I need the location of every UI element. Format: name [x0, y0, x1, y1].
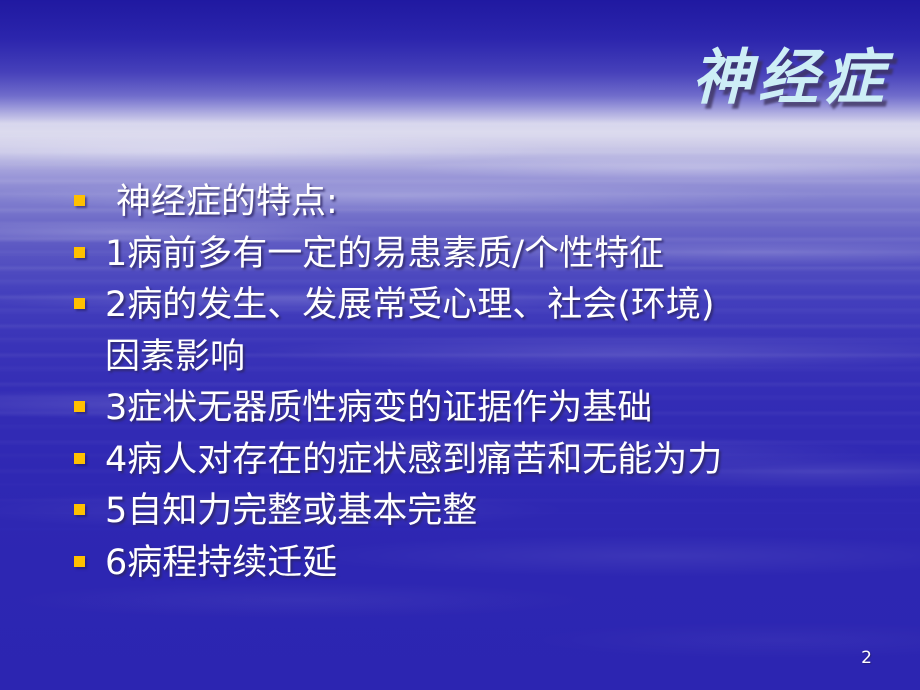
bullet-square-icon: [74, 298, 85, 309]
slide-bullet-list: 神经症的特点:1病前多有一定的易患素质/个性特征2病的发生、发展常受心理、社会(…: [74, 180, 894, 592]
slide-title: 神经症: [692, 48, 890, 108]
bullet-item: 6病程持续迁延: [74, 541, 894, 587]
bullet-square-icon: [74, 401, 85, 412]
bullet-wrapped-line: 因素影响: [74, 335, 894, 381]
bullet-label: 因素影响: [85, 335, 894, 381]
bullet-label: 6病程持续迁延: [85, 541, 894, 587]
bullet-item: 2病的发生、发展常受心理、社会(环境): [74, 283, 894, 329]
bullet-label: 5自知力完整或基本完整: [85, 489, 894, 535]
bullet-square-icon: [74, 195, 85, 206]
bullet-item: 5自知力完整或基本完整: [74, 489, 894, 535]
presentation-slide: 神经症 神经症的特点:1病前多有一定的易患素质/个性特征2病的发生、发展常受心理…: [0, 0, 920, 690]
bullet-label: 神经症的特点:: [85, 180, 894, 226]
bullet-square-icon: [74, 247, 85, 258]
bullet-item: 4病人对存在的症状感到痛苦和无能为力: [74, 438, 894, 484]
bullet-square-icon: [74, 453, 85, 464]
bullet-label: 2病的发生、发展常受心理、社会(环境): [85, 283, 894, 329]
bullet-item: 神经症的特点:: [74, 180, 894, 226]
bullet-square-icon: [74, 504, 85, 515]
bullet-label: 1病前多有一定的易患素质/个性特征: [85, 232, 894, 278]
bullet-label: 3症状无器质性病变的证据作为基础: [85, 386, 894, 432]
bullet-label: 4病人对存在的症状感到痛苦和无能为力: [85, 438, 894, 484]
bullet-square-icon: [74, 556, 85, 567]
page-number: 2: [861, 648, 872, 668]
bullet-item: 3症状无器质性病变的证据作为基础: [74, 386, 894, 432]
bullet-item: 1病前多有一定的易患素质/个性特征: [74, 232, 894, 278]
